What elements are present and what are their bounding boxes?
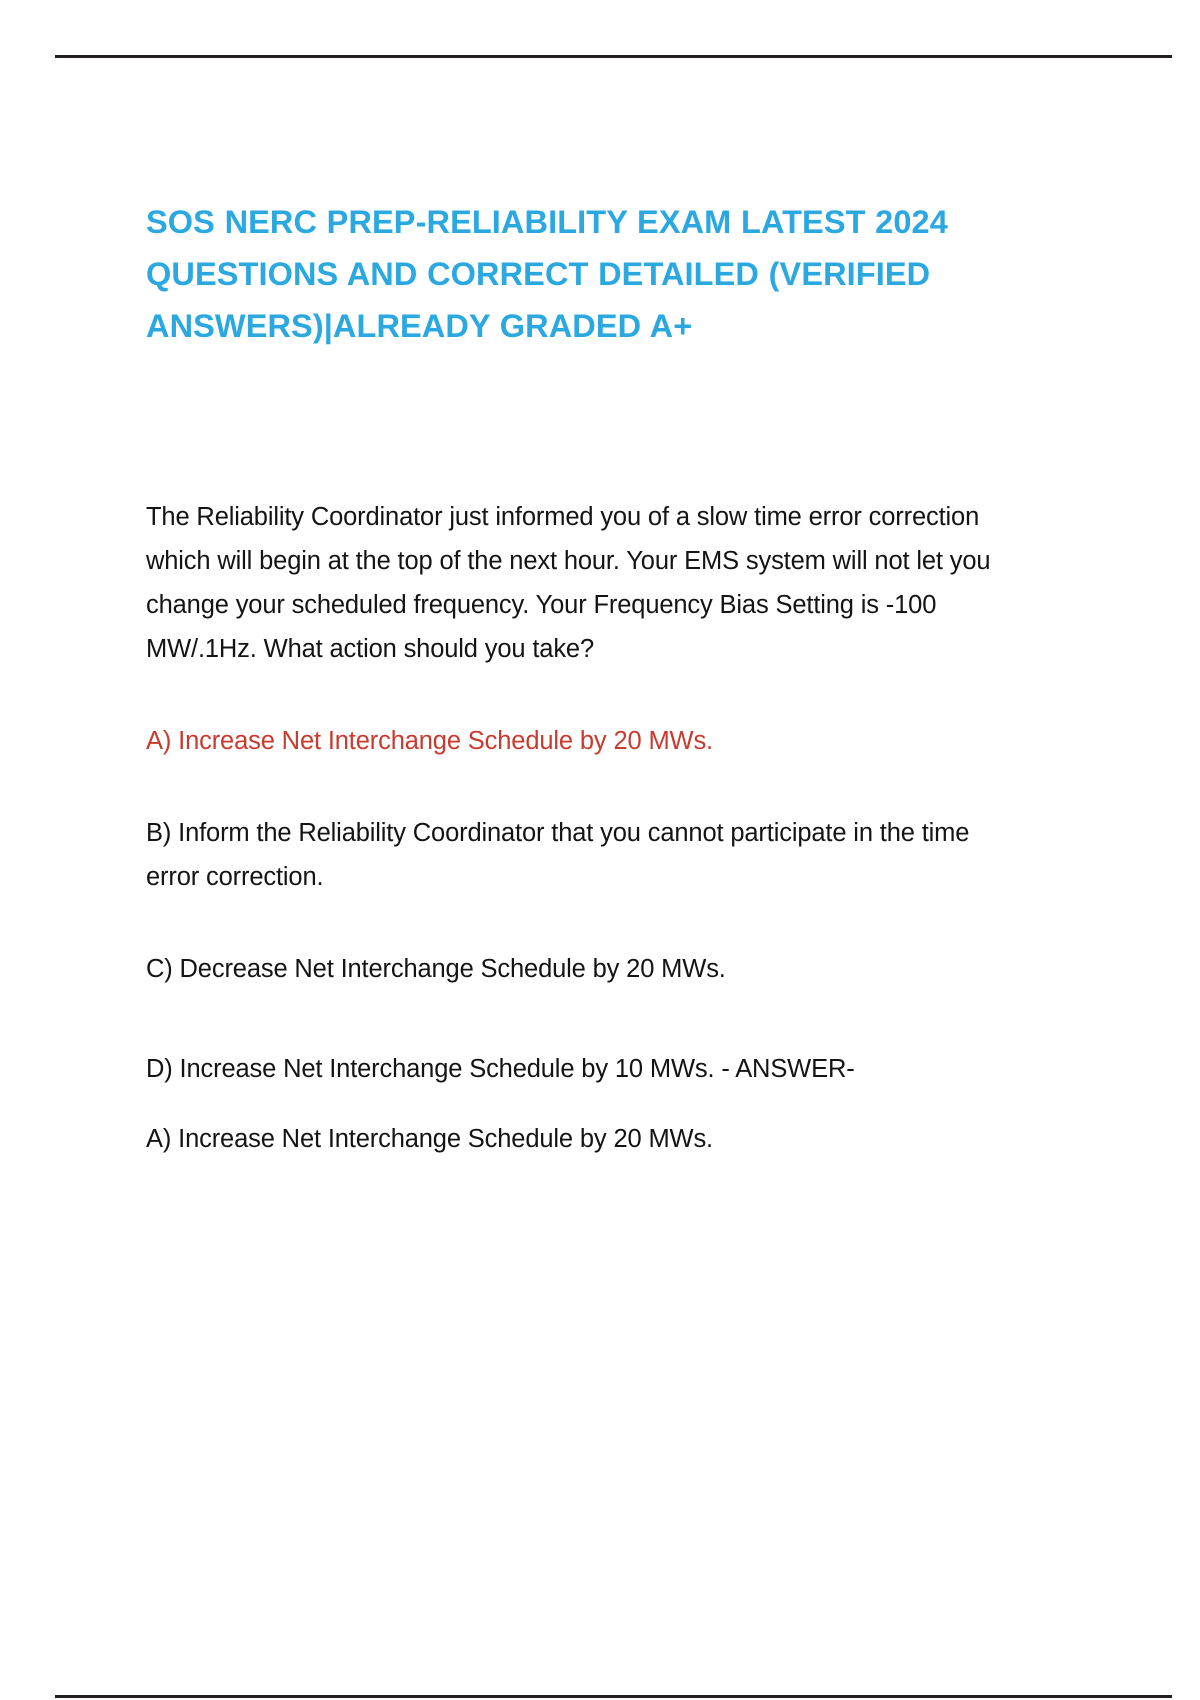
- option-d: D) Increase Net Interchange Schedule by …: [146, 1047, 996, 1091]
- option-b: B) Inform the Reliability Coordinator th…: [146, 811, 996, 899]
- page-bottom-rule: [55, 1695, 1172, 1698]
- document-title: SOS NERC PREP-RELIABILITY EXAM LATEST 20…: [146, 196, 976, 352]
- question-stem: The Reliability Coordinator just informe…: [146, 495, 996, 671]
- option-c: C) Decrease Net Interchange Schedule by …: [146, 947, 996, 991]
- answer-restatement: A) Increase Net Interchange Schedule by …: [146, 1117, 996, 1161]
- document-page: SOS NERC PREP-RELIABILITY EXAM LATEST 20…: [0, 0, 1200, 1700]
- page-top-rule: [55, 55, 1172, 58]
- document-content: SOS NERC PREP-RELIABILITY EXAM LATEST 20…: [146, 196, 1038, 1186]
- option-a: A) Increase Net Interchange Schedule by …: [146, 719, 996, 763]
